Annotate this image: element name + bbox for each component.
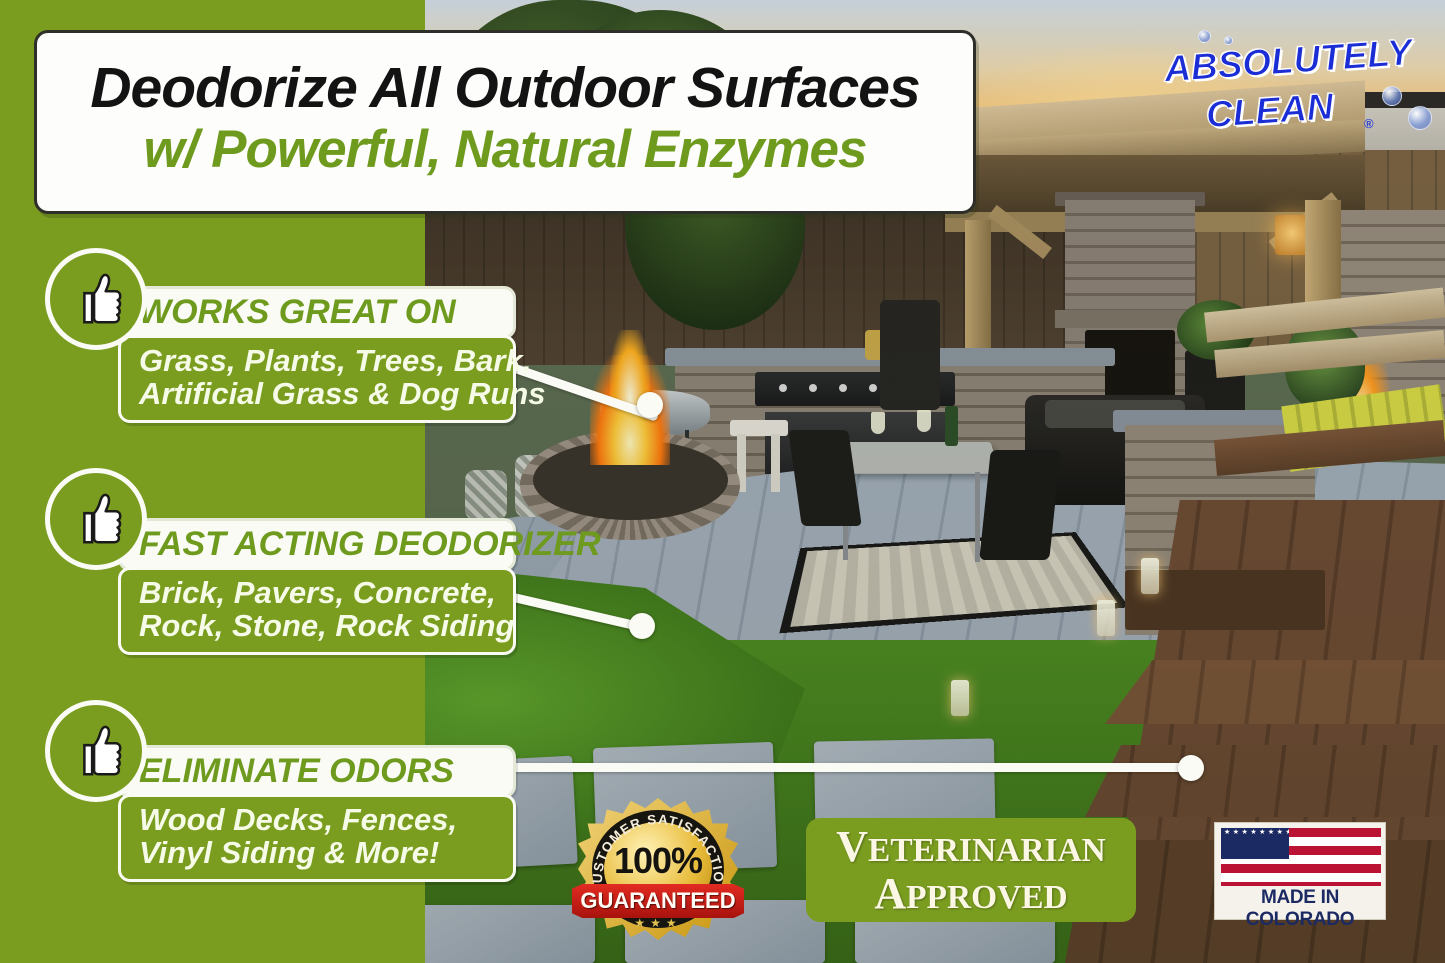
us-flag-icon: ★★★★★★★★★★★★★★★★★★★★★★★★★★★★★★★★★★★★★★★★… [1221, 828, 1381, 886]
vet-line-2-cap: A [874, 869, 906, 918]
callout-3-body-line-1: Wood Decks, Fences, [139, 804, 499, 836]
made-in-colorado-label: MADE IN COLORADO [1215, 887, 1385, 931]
vet-line-1-cap: V [836, 822, 868, 871]
guarantee-badge: CUSTOMER SATISFACTION 100% GUARANTEED ★★… [578, 798, 738, 940]
guarantee-ribbon-label: GUARANTEED [580, 888, 735, 914]
leader-dot-2 [629, 613, 655, 639]
registered-mark: ® [1364, 116, 1374, 131]
leader-dot-1 [637, 392, 663, 418]
brand-line-2: CLEAN [1205, 86, 1335, 137]
vet-line-2-rest: PPROVED [906, 879, 1068, 916]
bubble-icon [1382, 86, 1402, 106]
callout-3-body: Wood Decks, Fences, Vinyl Siding & More! [118, 794, 516, 882]
guarantee-percent: 100% [578, 840, 738, 882]
callout-3-body-line-2: Vinyl Siding & More! [139, 837, 499, 869]
brand-logo: ABSOLUTELY CLEAN ® [1168, 34, 1430, 162]
guarantee-ribbon: GUARANTEED [572, 884, 744, 918]
guarantee-stars: ★★★ [578, 916, 738, 930]
callout-3-heading: ELIMINATE ODORS [118, 745, 516, 798]
callout-2-body-line-2: Rock, Stone, Rock Siding [139, 610, 499, 642]
callout-1-body: Grass, Plants, Trees, Bark, Artificial G… [118, 335, 516, 423]
headline-line-2: w/ Powerful, Natural Enzymes [143, 121, 866, 178]
veterinarian-approved-badge: VETERINARIAN APPROVED [806, 818, 1136, 922]
flag-stars: ★★★★★★★★★★★★★★★★★★★★★★★★★★★★★★★★★★★★★★★★… [1221, 828, 1289, 859]
leader-line-3 [492, 763, 1198, 772]
vet-line-1-rest: ETERINARIAN [868, 832, 1106, 869]
callout-2-body: Brick, Pavers, Concrete, Rock, Stone, Ro… [118, 567, 516, 655]
bubble-icon [1408, 106, 1432, 130]
thumbs-up-icon [65, 720, 127, 782]
callout-1-heading: WORKS GREAT ON [118, 286, 516, 339]
bubble-icon [1198, 30, 1211, 43]
product-marketing-poster: Deodorize All Outdoor Surfaces w/ Powerf… [0, 0, 1445, 963]
thumbs-up-icon-3 [45, 700, 147, 802]
callout-1: WORKS GREAT ON Grass, Plants, Trees, Bar… [118, 286, 516, 423]
callout-3: ELIMINATE ODORS Wood Decks, Fences, Viny… [118, 745, 516, 882]
vet-line-2: APPROVED [874, 872, 1067, 916]
thumbs-up-icon [65, 488, 127, 550]
callout-2-body-line-1: Brick, Pavers, Concrete, [139, 577, 499, 609]
callout-2: FAST ACTING DEODORIZER Brick, Pavers, Co… [118, 518, 516, 655]
headline-line-1: Deodorize All Outdoor Surfaces [90, 59, 919, 117]
thumbs-up-icon-2 [45, 468, 147, 570]
thumbs-up-icon [65, 268, 127, 330]
callout-2-heading: FAST ACTING DEODORIZER [118, 518, 516, 571]
callout-1-body-line-1: Grass, Plants, Trees, Bark, [139, 345, 499, 377]
callout-1-body-line-2: Artificial Grass & Dog Runs [139, 378, 499, 410]
vet-line-1: VETERINARIAN [836, 825, 1106, 869]
headline-banner: Deodorize All Outdoor Surfaces w/ Powerf… [34, 30, 976, 214]
thumbs-up-icon-1 [45, 248, 147, 350]
flag-canton: ★★★★★★★★★★★★★★★★★★★★★★★★★★★★★★★★★★★★★★★★… [1221, 828, 1289, 859]
leader-dot-3 [1178, 755, 1204, 781]
made-in-colorado-badge: ★★★★★★★★★★★★★★★★★★★★★★★★★★★★★★★★★★★★★★★★… [1214, 822, 1386, 920]
